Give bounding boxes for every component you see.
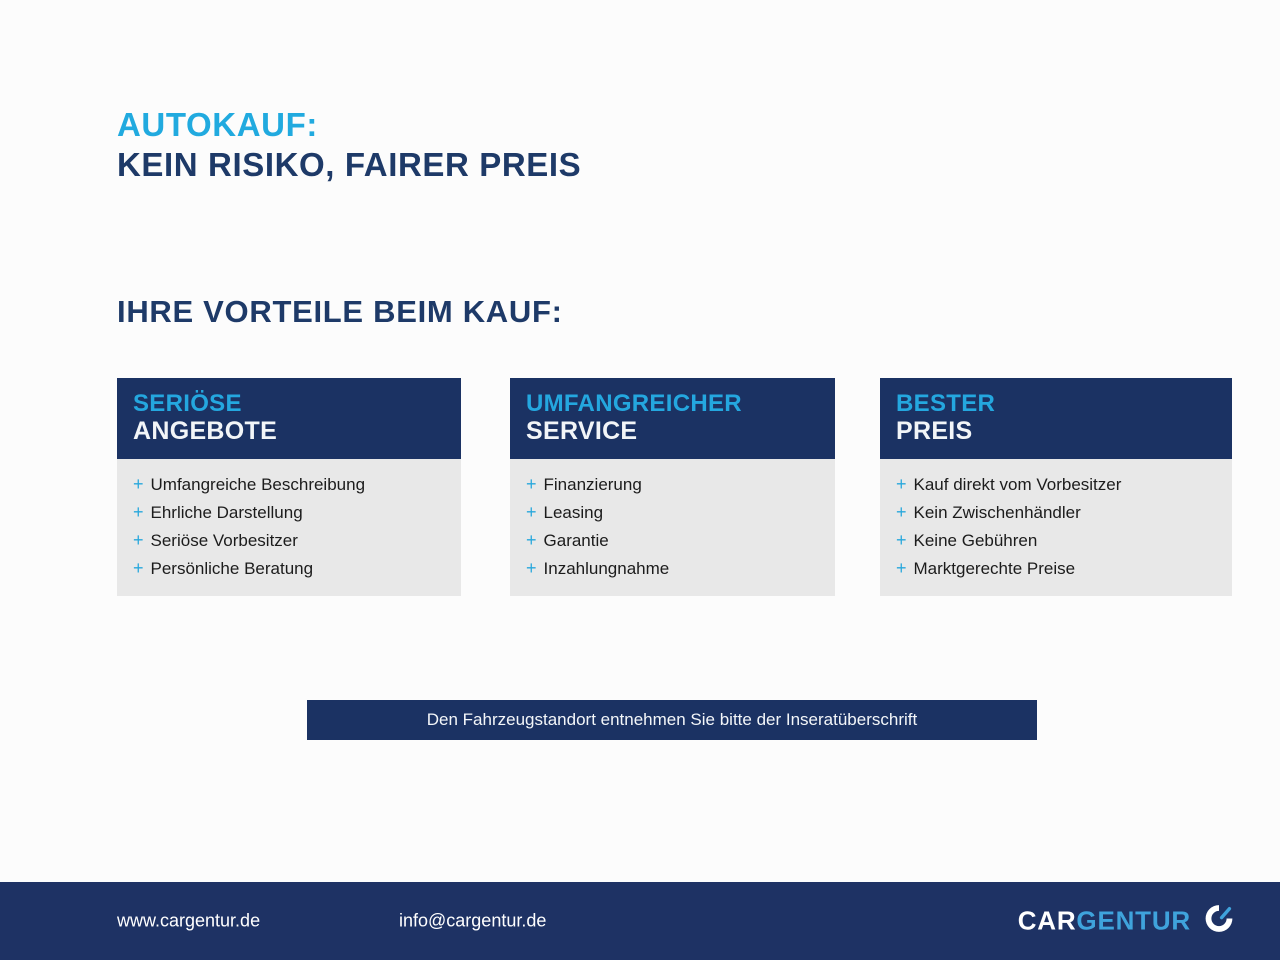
headline-main-line: KEIN RISIKO, FAIRER PREIS (117, 148, 581, 181)
list-item: + Garantie (526, 531, 819, 549)
card-title-top: BESTER (896, 392, 1216, 416)
list-item: + Finanzierung (526, 475, 819, 493)
card-feature-list: + Kauf direkt vom Vorbesitzer + Kein Zwi… (880, 459, 1232, 596)
card-title-top: SERIÖSE (133, 392, 445, 416)
cargentur-logo: CARGENTUR (1018, 902, 1236, 941)
card-title-bottom: SERVICE (526, 419, 819, 445)
list-item-label: Kein Zwischenhändler (914, 504, 1081, 521)
benefit-card-bester-preis: BESTER PREIS + Kauf direkt vom Vorbesitz… (880, 378, 1232, 596)
headline-accent-line: AUTOKAUF: (117, 108, 581, 141)
list-item-label: Seriöse Vorbesitzer (151, 532, 298, 549)
benefit-card-umfangreicher-service: UMFANGREICHER SERVICE + Finanzierung + L… (510, 378, 835, 596)
plus-icon: + (133, 559, 144, 577)
list-item-label: Finanzierung (544, 476, 642, 493)
plus-icon: + (526, 559, 537, 577)
list-item-label: Kauf direkt vom Vorbesitzer (914, 476, 1122, 493)
card-feature-list: + Umfangreiche Beschreibung + Ehrliche D… (117, 459, 461, 596)
plus-icon: + (896, 503, 907, 521)
section-title: IHRE VORTEILE BEIM KAUF: (117, 294, 563, 330)
logo-wordmark-part2: GENTUR (1076, 906, 1191, 936)
card-title-bottom: PREIS (896, 419, 1216, 445)
list-item-label: Inzahlungnahme (544, 560, 670, 577)
footer-bar: www.cargentur.de info@cargentur.de CARGE… (0, 882, 1280, 960)
card-feature-list: + Finanzierung + Leasing + Garantie + In… (510, 459, 835, 596)
list-item: + Inzahlungnahme (526, 559, 819, 577)
card-header: UMFANGREICHER SERVICE (510, 378, 835, 459)
list-item: + Persönliche Beratung (133, 559, 445, 577)
card-title-bottom: ANGEBOTE (133, 419, 445, 445)
list-item: + Seriöse Vorbesitzer (133, 531, 445, 549)
list-item: + Umfangreiche Beschreibung (133, 475, 445, 493)
plus-icon: + (896, 531, 907, 549)
list-item-label: Keine Gebühren (914, 532, 1038, 549)
list-item-label: Garantie (544, 532, 609, 549)
plus-icon: + (526, 475, 537, 493)
list-item: + Kauf direkt vom Vorbesitzer (896, 475, 1216, 493)
location-notice-banner: Den Fahrzeugstandort entnehmen Sie bitte… (307, 700, 1037, 740)
plus-icon: + (526, 503, 537, 521)
cargentur-c-speedometer-mark-icon (1202, 902, 1236, 941)
plus-icon: + (896, 559, 907, 577)
list-item-label: Marktgerechte Preise (914, 560, 1076, 577)
card-header: SERIÖSE ANGEBOTE (117, 378, 461, 459)
plus-icon: + (896, 475, 907, 493)
plus-icon: + (133, 503, 144, 521)
card-title-top: UMFANGREICHER (526, 392, 819, 416)
list-item: + Kein Zwischenhändler (896, 503, 1216, 521)
footer-website-link[interactable]: www.cargentur.de (117, 911, 260, 932)
list-item: + Leasing (526, 503, 819, 521)
list-item-label: Leasing (544, 504, 604, 521)
list-item: + Ehrliche Darstellung (133, 503, 445, 521)
benefit-cards: SERIÖSE ANGEBOTE + Umfangreiche Beschrei… (117, 378, 1232, 596)
benefit-card-serioese-angebote: SERIÖSE ANGEBOTE + Umfangreiche Beschrei… (117, 378, 461, 596)
logo-wordmark-part1: CAR (1018, 906, 1077, 936)
list-item-label: Ehrliche Darstellung (151, 504, 303, 521)
page-title: AUTOKAUF: KEIN RISIKO, FAIRER PREIS (117, 108, 581, 181)
list-item-label: Persönliche Beratung (151, 560, 314, 577)
list-item: + Keine Gebühren (896, 531, 1216, 549)
plus-icon: + (526, 531, 537, 549)
logo-wordmark: CARGENTUR (1018, 906, 1191, 937)
footer-email-link[interactable]: info@cargentur.de (399, 911, 546, 932)
slide-root: AUTOKAUF: KEIN RISIKO, FAIRER PREIS IHRE… (0, 0, 1280, 960)
plus-icon: + (133, 475, 144, 493)
card-header: BESTER PREIS (880, 378, 1232, 459)
list-item-label: Umfangreiche Beschreibung (151, 476, 366, 493)
list-item: + Marktgerechte Preise (896, 559, 1216, 577)
plus-icon: + (133, 531, 144, 549)
